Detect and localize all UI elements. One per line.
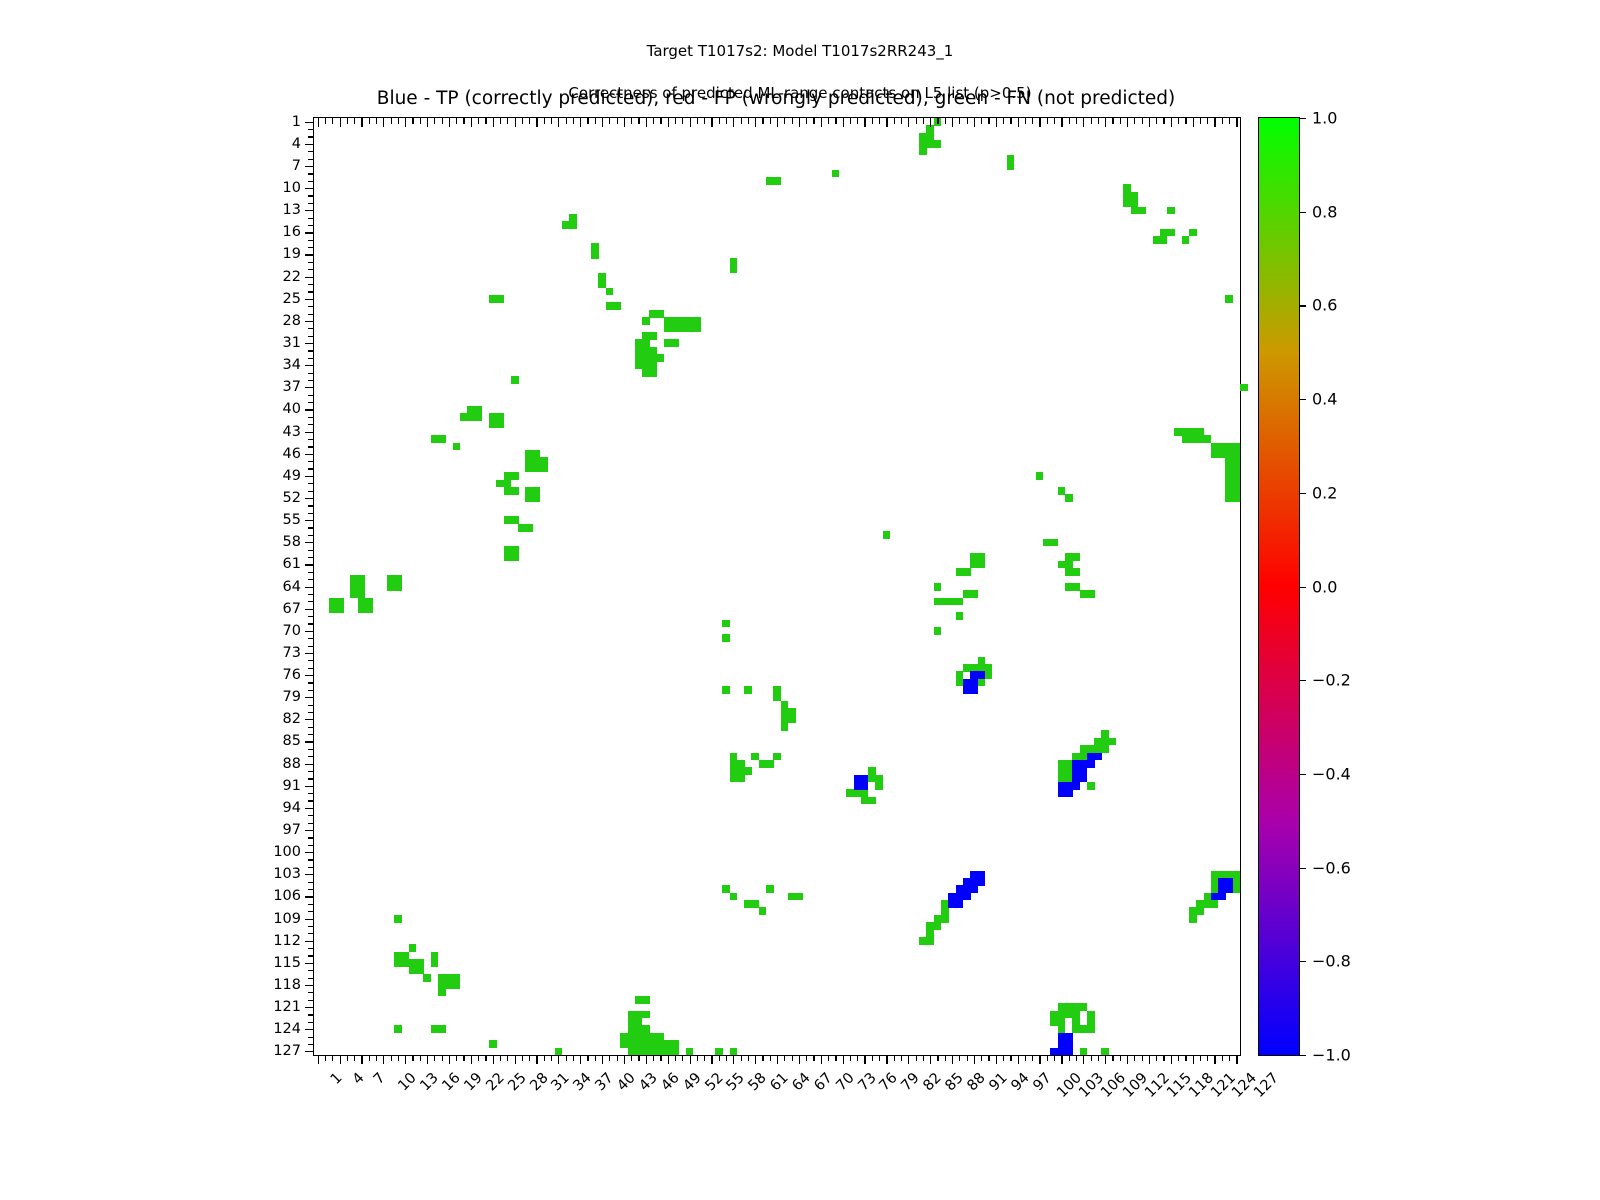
heatmap-cell-fn xyxy=(1240,384,1248,392)
x-axis-tick xyxy=(1193,1055,1194,1064)
y-axis-tick xyxy=(305,786,314,787)
x-axis-tick-top xyxy=(544,118,545,124)
heatmap-cell-fn xyxy=(956,612,964,620)
y-axis-tick xyxy=(305,299,314,300)
y-axis-tick xyxy=(308,218,314,219)
x-axis-tick xyxy=(660,1055,661,1061)
x-axis-tick xyxy=(1083,1055,1084,1064)
x-axis-tick xyxy=(923,1055,924,1061)
heatmap-cell-fn xyxy=(773,177,781,185)
y-axis-tick xyxy=(308,682,314,683)
heatmap-cell-fn xyxy=(1233,885,1241,893)
y-axis-tick xyxy=(308,727,314,728)
x-axis-tick-top xyxy=(901,118,902,124)
x-axis-tick xyxy=(536,1055,537,1064)
x-axis-tick-top xyxy=(376,118,377,124)
colorbar-label: 1.0 xyxy=(1312,109,1337,128)
y-axis-tick xyxy=(308,594,314,595)
x-axis-tick xyxy=(916,1055,917,1061)
y-axis-tick xyxy=(308,837,314,838)
x-axis-tick-top xyxy=(850,118,851,124)
x-axis-tick xyxy=(1142,1055,1143,1061)
y-axis-label: 19 xyxy=(283,246,301,262)
colorbar-tick xyxy=(1299,587,1306,588)
x-axis-tick-top xyxy=(1054,118,1055,124)
heatmap-cell-tp xyxy=(1225,885,1233,893)
y-axis-tick xyxy=(308,424,314,425)
x-axis-tick xyxy=(522,1055,523,1061)
x-axis-tick-top xyxy=(420,118,421,124)
y-axis-tick xyxy=(305,498,314,499)
x-axis-tick xyxy=(777,1055,778,1064)
x-axis-tick-top xyxy=(1091,118,1092,124)
x-axis-label: 127 xyxy=(1251,1070,1282,1101)
colorbar-tick xyxy=(1299,212,1306,213)
x-axis-tick-top xyxy=(587,118,588,124)
y-axis-tick xyxy=(305,343,314,344)
x-axis-tick-top xyxy=(1018,118,1019,127)
x-axis-tick xyxy=(587,1055,588,1061)
x-axis-tick-top xyxy=(566,118,567,124)
x-axis-tick xyxy=(1105,1055,1106,1064)
y-axis-tick xyxy=(308,771,314,772)
x-axis-tick xyxy=(1222,1055,1223,1061)
x-axis-tick xyxy=(945,1055,946,1061)
x-axis-tick xyxy=(704,1055,705,1061)
x-axis-tick xyxy=(412,1055,413,1061)
y-axis-tick xyxy=(305,254,314,255)
heatmap-cell-fn xyxy=(956,598,964,606)
y-axis-tick xyxy=(305,432,314,433)
x-axis-tick xyxy=(1039,1055,1040,1064)
y-axis-label: 67 xyxy=(283,601,301,617)
x-axis-tick xyxy=(485,1055,486,1061)
y-axis-tick xyxy=(308,557,314,558)
y-axis-tick xyxy=(308,513,314,514)
heatmap-cell-fn xyxy=(1189,229,1197,237)
y-axis-tick xyxy=(305,1007,314,1008)
colorbar-tick xyxy=(1299,493,1306,494)
x-axis-tick-top xyxy=(617,118,618,124)
colorbar-label: −0.2 xyxy=(1312,671,1351,690)
x-axis-tick-top xyxy=(434,118,435,124)
y-axis-label: 40 xyxy=(283,401,301,417)
y-axis-tick xyxy=(305,741,314,742)
x-axis-tick xyxy=(325,1055,326,1061)
x-axis-tick-top xyxy=(799,118,800,127)
x-axis-tick xyxy=(1003,1055,1004,1061)
x-axis-tick-top xyxy=(1178,118,1179,124)
x-axis-label: 94 xyxy=(1008,1070,1032,1094)
y-axis-tick xyxy=(308,203,314,204)
heatmap-cell-fn xyxy=(1160,236,1168,244)
y-axis-tick xyxy=(305,520,314,521)
x-axis-tick-top xyxy=(631,118,632,124)
y-axis-tick xyxy=(305,719,314,720)
x-axis-tick-top xyxy=(1039,118,1040,127)
x-axis-tick xyxy=(398,1055,399,1061)
x-axis-tick-top xyxy=(1083,118,1084,127)
heatmap-cell-fn xyxy=(394,915,402,923)
x-axis-tick xyxy=(974,1055,975,1064)
heatmap-cell-fn xyxy=(474,413,482,421)
heatmap-cell-fn xyxy=(489,1040,497,1048)
y-axis-label: 13 xyxy=(283,202,301,218)
x-axis-tick-top xyxy=(945,118,946,124)
y-axis-tick xyxy=(305,896,314,897)
x-axis-tick xyxy=(806,1055,807,1061)
x-axis-tick-top xyxy=(908,118,909,127)
heatmap-cell-fn xyxy=(1167,229,1175,237)
x-axis-tick-top xyxy=(916,118,917,124)
y-axis-label: 55 xyxy=(283,512,301,528)
x-axis-tick-top xyxy=(427,118,428,127)
heatmap-cell-fn xyxy=(1072,568,1080,576)
heatmap-cell-fn xyxy=(985,671,993,679)
x-axis-tick xyxy=(471,1055,472,1064)
x-axis-tick-top xyxy=(347,118,348,124)
x-axis-tick-top xyxy=(828,118,829,124)
x-axis-tick xyxy=(886,1055,887,1064)
x-axis-tick-top xyxy=(1105,118,1106,127)
y-axis-tick xyxy=(308,380,314,381)
y-axis-tick xyxy=(308,358,314,359)
y-axis-tick xyxy=(308,800,314,801)
heatmap-cell-tp xyxy=(963,893,971,901)
heatmap-cell-tp xyxy=(1087,760,1095,768)
x-axis-label: 22 xyxy=(483,1070,507,1094)
y-axis-tick xyxy=(308,690,314,691)
heatmap-cell-tp xyxy=(970,686,978,694)
x-axis-tick-top xyxy=(719,118,720,124)
x-axis-tick xyxy=(617,1055,618,1061)
heatmap-cell-fn xyxy=(1189,915,1197,923)
y-axis-tick xyxy=(305,653,314,654)
x-axis-tick xyxy=(609,1055,610,1061)
y-axis-tick xyxy=(308,1014,314,1015)
x-axis-label: 19 xyxy=(461,1070,485,1094)
y-axis-tick xyxy=(308,646,314,647)
y-axis-tick xyxy=(305,919,314,920)
y-axis-label: 118 xyxy=(273,977,301,993)
y-axis-label: 88 xyxy=(283,756,301,772)
y-axis-tick xyxy=(308,859,314,860)
x-axis-tick xyxy=(908,1055,909,1064)
y-axis-label: 4 xyxy=(292,136,301,152)
y-axis-tick xyxy=(308,291,314,292)
heatmap-cell-fn xyxy=(744,686,752,694)
y-axis-label: 109 xyxy=(273,911,301,927)
heatmap-cell-fn xyxy=(1065,494,1073,502)
y-axis-tick xyxy=(308,240,314,241)
x-axis-tick-top xyxy=(792,118,793,124)
heatmap-cell-tp xyxy=(978,878,986,886)
x-axis-tick xyxy=(507,1055,508,1061)
y-axis-tick xyxy=(305,874,314,875)
x-axis-tick-top xyxy=(872,118,873,124)
y-axis-tick xyxy=(308,181,314,182)
y-axis-tick xyxy=(305,542,314,543)
x-axis-tick xyxy=(1018,1055,1019,1064)
y-axis-tick xyxy=(308,660,314,661)
colorbar-label: −1.0 xyxy=(1312,1046,1351,1065)
y-axis-tick xyxy=(305,210,314,211)
x-axis-tick-top xyxy=(784,118,785,124)
x-axis-tick xyxy=(1098,1055,1099,1061)
colorbar-tick xyxy=(1299,1055,1306,1056)
y-axis-tick xyxy=(308,815,314,816)
x-axis-tick-top xyxy=(354,118,355,124)
x-axis-tick xyxy=(595,1055,596,1061)
x-axis-tick-top xyxy=(755,118,756,127)
y-axis-tick xyxy=(305,609,314,610)
x-axis-tick xyxy=(741,1055,742,1061)
heatmap-cell-fn xyxy=(365,605,373,613)
y-axis-label: 115 xyxy=(273,955,301,971)
x-axis-tick xyxy=(1236,1055,1237,1064)
heatmap-cell-fn xyxy=(431,959,439,967)
y-axis-tick xyxy=(308,978,314,979)
x-axis-label: 97 xyxy=(1030,1070,1054,1094)
x-axis-tick xyxy=(967,1055,968,1061)
y-axis-tick xyxy=(308,638,314,639)
heatmap-cell-tp xyxy=(978,671,986,679)
x-axis-tick xyxy=(901,1055,902,1061)
x-axis-label: 61 xyxy=(768,1070,792,1094)
x-axis-tick xyxy=(1156,1055,1157,1061)
x-axis-tick-top xyxy=(1003,118,1004,124)
y-axis-tick xyxy=(308,749,314,750)
heatmap-cell-fn xyxy=(642,317,650,325)
x-axis-tick xyxy=(493,1055,494,1064)
x-axis-tick-top xyxy=(988,118,989,124)
heatmap-cell-fn xyxy=(978,679,986,687)
y-axis-tick xyxy=(308,262,314,263)
heatmap-cell-fn xyxy=(642,996,650,1004)
x-axis-tick-top xyxy=(682,118,683,124)
x-axis-tick xyxy=(1032,1055,1033,1061)
y-axis-label: 97 xyxy=(283,822,301,838)
x-axis-tick xyxy=(602,1055,603,1064)
heatmap-cell-fn xyxy=(533,494,541,502)
heatmap-cell-fn xyxy=(773,753,781,761)
heatmap-cell-fn xyxy=(438,989,446,997)
x-axis-label: 70 xyxy=(833,1070,857,1094)
colorbar-tick xyxy=(1299,868,1306,869)
y-axis-tick xyxy=(305,941,314,942)
y-axis-tick xyxy=(305,365,314,366)
y-axis-tick xyxy=(305,852,314,853)
x-axis-tick xyxy=(354,1055,355,1061)
x-axis-tick-top xyxy=(500,118,501,124)
x-axis-tick-top xyxy=(894,118,895,124)
y-axis-tick xyxy=(308,306,314,307)
y-axis-tick xyxy=(308,402,314,403)
heatmap-cell-fn xyxy=(1233,494,1241,502)
x-axis-tick-top xyxy=(1149,118,1150,127)
y-axis-tick xyxy=(308,314,314,315)
y-axis-tick xyxy=(308,882,314,883)
x-axis-tick xyxy=(427,1055,428,1064)
y-axis-label: 100 xyxy=(273,844,301,860)
heatmap-cell-fn xyxy=(1196,907,1204,915)
heatmap-cell-tp xyxy=(1218,893,1226,901)
x-axis-tick xyxy=(668,1055,669,1064)
y-axis-label: 124 xyxy=(273,1021,301,1037)
x-axis-tick-top xyxy=(1069,118,1070,124)
x-axis-tick-top xyxy=(1120,118,1121,124)
x-axis-tick-top xyxy=(332,118,333,124)
heatmap-cell-fn xyxy=(525,524,533,532)
x-axis-tick-top xyxy=(843,118,844,127)
x-axis-tick-top xyxy=(937,118,938,124)
x-axis-tick-top xyxy=(996,118,997,127)
y-axis-tick xyxy=(308,159,314,160)
x-axis-tick xyxy=(1061,1055,1062,1064)
x-axis-tick xyxy=(894,1055,895,1061)
x-axis-tick xyxy=(1229,1055,1230,1061)
x-axis-tick-top xyxy=(974,118,975,127)
x-axis-tick-top xyxy=(442,118,443,124)
suptitle-line-1: Target T1017s2: Model T1017s2RR243_1 xyxy=(0,41,1600,62)
x-axis-tick-top xyxy=(391,118,392,124)
heatmap-cell-fn xyxy=(511,553,519,561)
heatmap-cell-fn xyxy=(730,893,738,901)
x-axis-tick xyxy=(1178,1055,1179,1061)
x-axis-tick xyxy=(1091,1055,1092,1061)
x-axis-tick-top xyxy=(463,118,464,124)
heatmap-cell-fn xyxy=(438,435,446,443)
heatmap-cell-fn xyxy=(591,251,599,259)
heatmap-cell-fn xyxy=(693,325,701,333)
heatmap-cell-fn xyxy=(511,487,519,495)
heatmap-cell-fn xyxy=(1007,162,1015,170)
x-axis-tick-top xyxy=(1236,118,1237,127)
y-axis-tick xyxy=(305,764,314,765)
x-axis-tick-top xyxy=(325,118,326,124)
x-axis-tick-top xyxy=(485,118,486,124)
x-axis-tick xyxy=(981,1055,982,1061)
x-axis-label: 88 xyxy=(964,1070,988,1094)
colorbar-label: 0.6 xyxy=(1312,296,1337,315)
x-axis-tick xyxy=(434,1055,435,1061)
x-axis-tick xyxy=(988,1055,989,1061)
x-axis-label: 16 xyxy=(439,1070,463,1094)
heatmap-cell-fn xyxy=(781,723,789,731)
x-axis-tick xyxy=(631,1055,632,1061)
x-axis-label: 85 xyxy=(943,1070,967,1094)
y-axis-tick xyxy=(305,564,314,565)
heatmap-cell-fn xyxy=(496,420,504,428)
heatmap-cell-tp xyxy=(1094,753,1102,761)
x-axis-tick xyxy=(1134,1055,1135,1061)
figure-canvas: Target T1017s2: Model T1017s2RR243_1 Cor… xyxy=(0,0,1600,1200)
y-axis-tick xyxy=(308,136,314,137)
x-axis-tick-top xyxy=(923,118,924,124)
colorbar-label: −0.8 xyxy=(1312,952,1351,971)
contact-map-cells xyxy=(314,118,1240,1055)
y-axis-label: 76 xyxy=(283,667,301,683)
x-axis-tick-top xyxy=(930,118,931,127)
y-axis-tick xyxy=(308,151,314,152)
colorbar-label: −0.6 xyxy=(1312,858,1351,877)
x-axis-tick-top xyxy=(1032,118,1033,124)
x-axis-tick-top xyxy=(646,118,647,127)
x-axis-tick-top xyxy=(515,118,516,127)
x-axis-tick-top xyxy=(551,118,552,124)
x-axis-tick-top xyxy=(668,118,669,127)
y-axis-tick xyxy=(305,144,314,145)
heatmap-cell-fn xyxy=(1138,207,1146,215)
heatmap-cell-fn xyxy=(722,620,730,628)
y-axis-tick xyxy=(308,793,314,794)
heatmap-cell-fn xyxy=(657,354,665,362)
x-axis-tick-top xyxy=(697,118,698,124)
x-axis-tick xyxy=(930,1055,931,1064)
x-axis-tick xyxy=(544,1055,545,1061)
heatmap-cell-fn xyxy=(1072,553,1080,561)
y-axis-tick xyxy=(308,992,314,993)
y-axis-tick xyxy=(308,823,314,824)
y-axis-tick xyxy=(308,173,314,174)
x-axis-tick-top xyxy=(471,118,472,127)
y-axis-tick xyxy=(308,933,314,934)
x-axis-tick xyxy=(748,1055,749,1061)
heatmap-cell-fn xyxy=(1109,738,1117,746)
x-axis-tick-top xyxy=(1207,118,1208,124)
heatmap-cell-fn xyxy=(569,221,577,229)
x-axis-tick-top xyxy=(1134,118,1135,124)
x-axis-tick-top xyxy=(595,118,596,124)
heatmap-cell-fn xyxy=(540,465,548,473)
x-axis-tick xyxy=(770,1055,771,1061)
figure-suptitle: Target T1017s2: Model T1017s2RR243_1 Cor… xyxy=(0,20,1600,125)
x-axis-tick-top xyxy=(741,118,742,124)
x-axis-label: 40 xyxy=(614,1070,638,1094)
heatmap-cell-fn xyxy=(722,686,730,694)
contact-map-axes[interactable]: 1144771010131316161919222225252828313134… xyxy=(313,117,1241,1056)
x-axis-tick xyxy=(376,1055,377,1061)
heatmap-cell-fn xyxy=(1050,539,1058,547)
heatmap-cell-fn xyxy=(934,922,942,930)
x-axis-tick-top xyxy=(864,118,865,127)
x-axis-label: 4 xyxy=(349,1070,367,1088)
y-axis-label: 49 xyxy=(283,468,301,484)
x-axis-tick xyxy=(1025,1055,1026,1061)
heatmap-cell-fn xyxy=(671,339,679,347)
heatmap-cell-fn xyxy=(336,605,344,613)
y-axis-label: 127 xyxy=(273,1043,301,1059)
x-axis-tick xyxy=(828,1055,829,1061)
y-axis-label: 91 xyxy=(283,778,301,794)
x-axis-tick xyxy=(646,1055,647,1064)
y-axis-tick xyxy=(308,579,314,580)
heatmap-cell-fn xyxy=(795,893,803,901)
heatmap-cell-fn xyxy=(394,1025,402,1033)
x-axis-tick xyxy=(835,1055,836,1061)
x-axis-tick-top xyxy=(602,118,603,127)
y-axis-label: 82 xyxy=(283,711,301,727)
y-axis-tick xyxy=(308,336,314,337)
x-axis-tick xyxy=(1171,1055,1172,1064)
y-axis-label: 34 xyxy=(283,357,301,373)
y-axis-tick xyxy=(305,985,314,986)
heatmap-cell-fn xyxy=(1087,782,1095,790)
y-axis-tick xyxy=(305,675,314,676)
x-axis-tick-top xyxy=(580,118,581,127)
x-axis-tick-top xyxy=(1171,118,1172,127)
colorbar: 1.00.80.60.40.20.0−0.2−0.4−0.6−0.8−1.0 xyxy=(1258,117,1300,1056)
